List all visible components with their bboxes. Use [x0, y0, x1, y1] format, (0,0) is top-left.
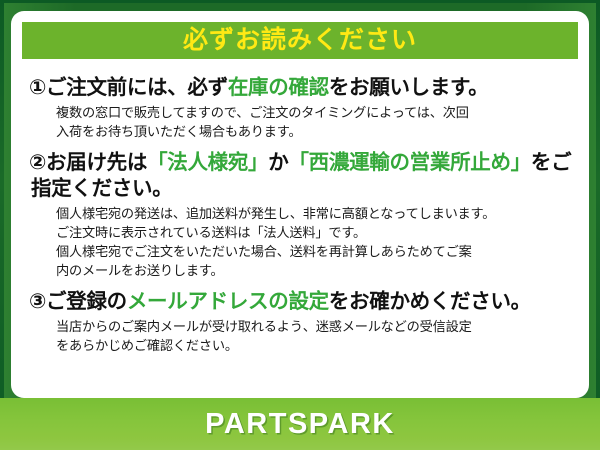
notice-body-line: 入荷をお待ち頂いただく場合もあります。 — [56, 122, 577, 141]
notice-body-line: 内のメールをお送りします。 — [56, 261, 577, 280]
heading-text: ③ご登録の — [29, 290, 127, 313]
heading-text: ①ご注文前には、必ず — [29, 76, 228, 99]
page-title: 必ずお読みください — [183, 28, 417, 53]
notice-body-line: 当店からのご案内メールが受け取れるよう、迷惑メールなどの受信設定 — [56, 317, 577, 336]
notice-item-body: 当店からのご案内メールが受け取れるよう、迷惑メールなどの受信設定をあらかじめご確… — [23, 317, 577, 355]
footer-band: PARTSPARK — [0, 398, 600, 450]
notice-card: 必ずお読みください ①ご注文前には、必ず在庫の確認をお願いします。複数の窓口で販… — [0, 0, 600, 450]
notice-item-2: ②お届け先は「法人様宛」か「西濃運輸の営業所止め」をご指定ください。個人様宅宛の… — [23, 150, 577, 280]
heading-text: をお確かめください。 — [329, 290, 531, 313]
notice-body-line: 個人様宅宛でご注文をいただいた場合、送料を再計算しあらためてご案 — [56, 242, 577, 261]
notice-body-line: 複数の窓口で販売してますので、ご注文のタイミングによっては、次回 — [56, 103, 577, 122]
notice-body-line: ご注文時に表示されている送料は「法人送料」です。 — [56, 223, 577, 242]
heading-text: か — [268, 151, 288, 174]
notice-item-3: ③ご登録のメールアドレスの設定をお確かめください。当店からのご案内メールが受け取… — [23, 289, 577, 355]
heading-text: ②お届け先は — [29, 151, 147, 174]
notice-item-heading: ③ご登録のメールアドレスの設定をお確かめください。 — [23, 289, 577, 315]
notice-item-list: ①ご注文前には、必ず在庫の確認をお願いします。複数の窓口で販売してますので、ご注… — [11, 66, 589, 398]
heading-highlight: 「西濃運輸の営業所止め」 — [288, 151, 530, 174]
notice-body-line: をあらかじめご確認ください。 — [56, 336, 577, 355]
notice-item-heading: ①ご注文前には、必ず在庫の確認をお願いします。 — [23, 75, 577, 101]
heading-highlight: メールアドレスの設定 — [127, 290, 329, 313]
notice-item-1: ①ご注文前には、必ず在庫の確認をお願いします。複数の窓口で販売してますので、ご注… — [23, 75, 577, 141]
header-banner: 必ずお読みください — [22, 22, 578, 59]
content-panel: 必ずお読みください ①ご注文前には、必ず在庫の確認をお願いします。複数の窓口で販… — [11, 11, 589, 398]
notice-item-body: 個人様宅宛の発送は、追加送料が発生し、非常に高額となってしまいます。ご注文時に表… — [23, 204, 577, 281]
heading-highlight: 在庫の確認 — [228, 76, 329, 99]
heading-text: をお願いします。 — [329, 76, 489, 99]
notice-body-line: 個人様宅宛の発送は、追加送料が発生し、非常に高額となってしまいます。 — [56, 204, 577, 223]
heading-highlight: 「法人様宛」 — [147, 151, 268, 174]
notice-item-body: 複数の窓口で販売してますので、ご注文のタイミングによっては、次回入荷をお待ち頂い… — [23, 103, 577, 141]
notice-item-heading: ②お届け先は「法人様宛」か「西濃運輸の営業所止め」をご指定ください。 — [23, 150, 577, 202]
brand-logo: PARTSPARK — [205, 410, 395, 439]
